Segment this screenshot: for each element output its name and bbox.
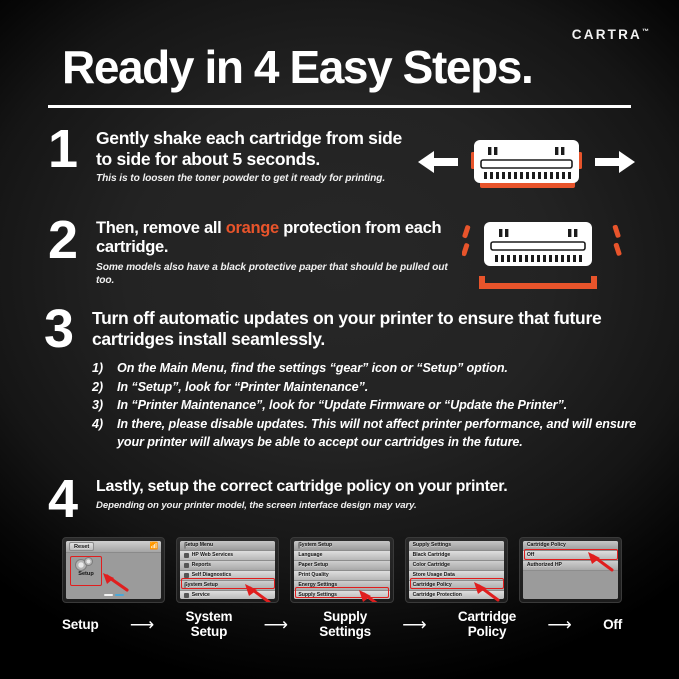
menu-row[interactable]: Paper Setup — [294, 561, 389, 571]
document-icon — [184, 553, 189, 558]
brand-name: CARTRA — [572, 27, 642, 42]
setup-tile-label: Setup — [71, 571, 101, 577]
flow-label-off: Off — [603, 617, 622, 632]
brand-trademark: ™ — [642, 29, 649, 36]
menu-row[interactable]: Energy Settings — [294, 581, 389, 591]
menu-row-label: Off — [527, 552, 534, 560]
menu-row[interactable]: Cartridge Policy — [523, 541, 618, 551]
step-2-subtext: Some models also have a black protective… — [96, 261, 458, 288]
menu-row-label: Color Cartridge — [413, 562, 450, 570]
toner-cartridge-icon — [484, 222, 592, 266]
toner-cartridge-icon — [474, 140, 579, 183]
step-3-substep-list: 1)On the Main Menu, find the settings “g… — [92, 359, 644, 452]
menu-row-label: Supply Settings — [298, 592, 337, 599]
step-3: 3 Turn off automatic updates on your pri… — [44, 308, 644, 452]
printer-screen-setup-menu: Setup Menu HP Web Services Reports Self … — [176, 537, 279, 603]
menu-row-label: Energy Settings — [298, 582, 337, 590]
step-3-heading: Turn off automatic updates on your print… — [92, 308, 644, 349]
page-title: Ready in 4 Easy Steps. — [62, 44, 532, 90]
right-arrow-icon: ⟶ — [402, 616, 426, 633]
flow-label-system-setup: System Setup — [185, 609, 232, 639]
report-icon — [184, 563, 189, 568]
menu-row-label: Self Diagnostics — [192, 572, 232, 580]
menu-row-supply-settings[interactable]: Supply Settings — [294, 591, 389, 599]
wifi-icon: 📶 — [149, 543, 158, 550]
menu-row[interactable]: Store Usage Data — [409, 571, 504, 581]
step-4-subtext: Depending on your printer model, the scr… — [96, 500, 518, 512]
menu-row[interactable]: Color Cartridge — [409, 561, 504, 571]
poster-root: CARTRA™ Ready in 4 Easy Steps. 1 Gently … — [0, 0, 679, 679]
right-arrow-icon: ⟶ — [264, 616, 288, 633]
menu-row[interactable]: System Setup — [294, 541, 389, 551]
menu-row-cartridge-policy[interactable]: Cartridge Policy — [409, 581, 504, 591]
step-3-substep: 2)In “Setup”, look for “Printer Maintena… — [92, 378, 644, 397]
menu-row[interactable]: Reports — [180, 561, 275, 571]
menu-row-label: Paper Setup — [298, 562, 328, 570]
menu-row-label: Print Quality — [298, 572, 328, 580]
menu-row[interactable]: Authorized HP — [523, 561, 618, 571]
flow-label-cartridge-policy: Cartridge Policy — [458, 609, 516, 639]
step-2-heading: Then, remove all orange protection from … — [96, 219, 458, 258]
menu-row-label: Cartridge Policy — [527, 542, 566, 550]
step-2-illustration — [462, 218, 627, 290]
left-arrow-icon — [418, 151, 458, 173]
step-1-illustration — [414, 135, 639, 197]
step-4: 4 Lastly, setup the correct cartridge po… — [48, 478, 518, 520]
substep-index: 1) — [92, 359, 110, 378]
menu-row-label: Cartridge Protection — [413, 592, 462, 599]
diagnostics-icon — [184, 573, 189, 578]
printer-screen-cartridge-policy: Cartridge Policy Off Authorized HP — [519, 537, 622, 603]
right-arrow-icon: ⟶ — [547, 616, 571, 633]
flow-label-row: Setup ⟶ System Setup ⟶ Supply Settings ⟶… — [62, 609, 622, 639]
step-3-number: 3 — [44, 308, 92, 350]
step-1: 1 Gently shake each cartridge from side … — [48, 128, 420, 186]
menu-row-label: Black Cartridge — [413, 552, 451, 560]
step-4-heading: Lastly, setup the correct cartridge poli… — [96, 478, 518, 497]
printer-screen-home: Reset 📶 Setup — [62, 537, 165, 603]
page-indicator-dots[interactable] — [66, 594, 161, 597]
menu-row-label: Reports — [192, 562, 211, 570]
step-1-heading: Gently shake each cartridge from side to… — [96, 128, 420, 169]
substep-index: 4) — [92, 415, 110, 452]
step-3-substep: 3)In “Printer Maintenance”, look for “Up… — [92, 396, 644, 415]
menu-row-label: System Setup — [298, 542, 332, 550]
menu-row-label: Store Usage Data — [413, 572, 455, 580]
menu-row[interactable]: Self Diagnostics — [180, 571, 275, 581]
step-3-substep: 4)In there, please disable updates. This… — [92, 415, 644, 452]
menu-row-label: HP Web Services — [192, 552, 233, 560]
menu-row-label: Supply Settings — [413, 542, 452, 550]
menu-row[interactable]: Black Cartridge — [409, 551, 504, 561]
menu-row[interactable]: Print Quality — [294, 571, 389, 581]
substep-index: 3) — [92, 396, 110, 415]
menu-row-label: Language — [298, 552, 322, 560]
substep-index: 2) — [92, 378, 110, 397]
step-2-heading-highlight: orange — [226, 219, 279, 237]
step-2-number: 2 — [48, 219, 96, 261]
printer-screen-sequence: Reset 📶 Setup — [62, 537, 622, 603]
menu-row-label: Authorized HP — [527, 562, 562, 570]
step-2-heading-pre: Then, remove all — [96, 219, 226, 237]
wrench-icon — [184, 593, 189, 598]
reset-button[interactable]: Reset — [69, 542, 94, 551]
menu-row[interactable]: Service — [180, 591, 275, 599]
setup-tile[interactable]: Setup — [71, 557, 101, 577]
substep-text: In there, please disable updates. This w… — [117, 415, 644, 452]
menu-row-system-setup[interactable]: System Setup — [180, 581, 275, 591]
menu-row[interactable]: Setup Menu — [180, 541, 275, 551]
printer-screen-system-setup: System Setup Language Paper Setup Print … — [290, 537, 393, 603]
home-status-bar: Reset 📶 — [66, 541, 161, 553]
right-arrow-icon — [595, 151, 635, 173]
step-1-subtext: This is to loosen the toner powder to ge… — [96, 172, 420, 185]
substep-text: In “Setup”, look for “Printer Maintenanc… — [117, 378, 368, 397]
right-arrow-icon: ⟶ — [130, 616, 154, 633]
step-2: 2 Then, remove all orange protection fro… — [48, 219, 458, 287]
menu-row[interactable]: Supply Settings — [409, 541, 504, 551]
flow-label-supply-settings: Supply Settings — [319, 609, 371, 639]
substep-text: In “Printer Maintenance”, look for “Upda… — [117, 396, 567, 415]
step-1-number: 1 — [48, 128, 96, 170]
brand-logo: CARTRA™ — [572, 27, 649, 42]
menu-row-label: Setup Menu — [184, 542, 213, 550]
menu-row-label: Cartridge Policy — [413, 582, 452, 590]
menu-row[interactable]: Language — [294, 551, 389, 561]
menu-row[interactable]: HP Web Services — [180, 551, 275, 561]
menu-row-label: System Setup — [184, 582, 218, 590]
flow-label-setup: Setup — [62, 617, 99, 632]
gear-icon — [71, 557, 101, 570]
step-3-substep: 1)On the Main Menu, find the settings “g… — [92, 359, 644, 378]
menu-row-off[interactable]: Off — [523, 551, 618, 561]
menu-row-label: Service — [192, 592, 210, 599]
menu-row[interactable]: Cartridge Protection — [409, 591, 504, 599]
step-4-number: 4 — [48, 478, 96, 520]
printer-screen-supply-settings: Supply Settings Black Cartridge Color Ca… — [405, 537, 508, 603]
title-divider — [48, 105, 631, 108]
substep-text: On the Main Menu, find the settings “gea… — [117, 359, 508, 378]
